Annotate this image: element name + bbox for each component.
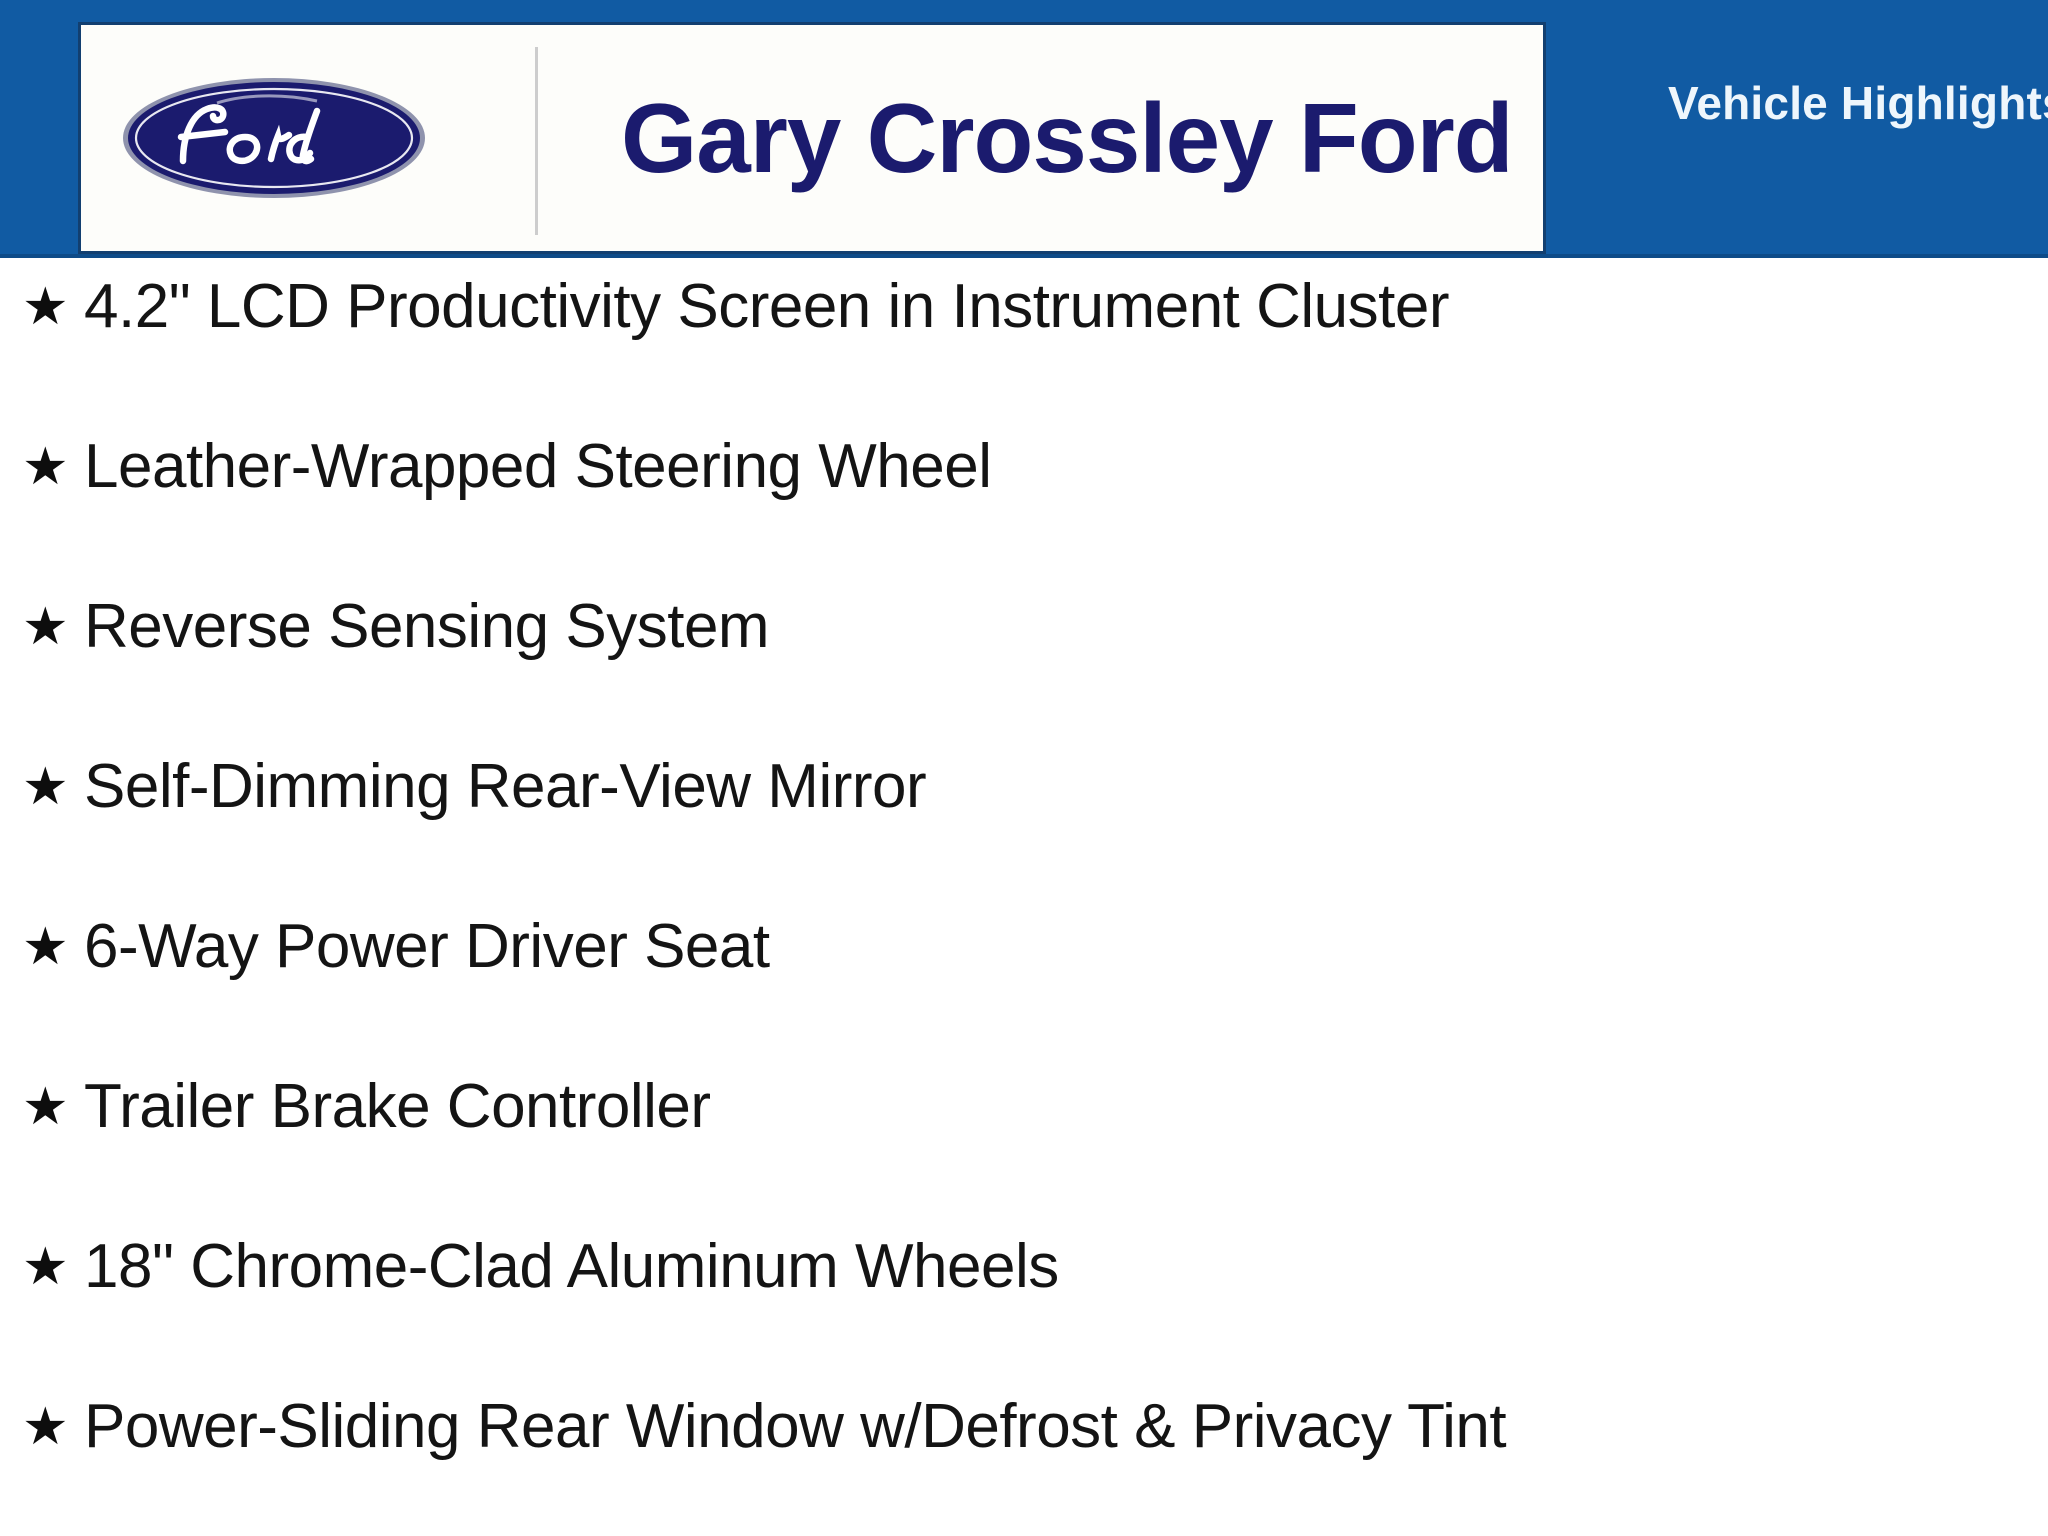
header-divider: [535, 47, 538, 235]
star-bullet-icon: ★: [22, 1401, 84, 1453]
dealer-name: Gary Crossley Ford: [621, 89, 1513, 187]
list-item: ★ Self-Dimming Rear-View Mirror: [22, 742, 926, 832]
list-item: ★ 6-Way Power Driver Seat: [22, 902, 770, 992]
list-item-label: Power-Sliding Rear Window w/Defrost & Pr…: [84, 1396, 1506, 1458]
list-item-label: Self-Dimming Rear-View Mirror: [84, 756, 926, 818]
list-item: ★ Power-Sliding Rear Window w/Defrost & …: [22, 1382, 1506, 1472]
list-item-label: 6-Way Power Driver Seat: [84, 916, 770, 978]
section-label-vehicle-highlights: Vehicle Highlights: [1668, 76, 2048, 130]
list-item: ★ Leather-Wrapped Steering Wheel: [22, 422, 992, 512]
list-item: ★ 4.2" LCD Productivity Screen in Instru…: [22, 262, 1449, 352]
list-item-label: Leather-Wrapped Steering Wheel: [84, 436, 992, 498]
list-item: ★ 18" Chrome-Clad Aluminum Wheels: [22, 1222, 1059, 1312]
list-item-label: 4.2" LCD Productivity Screen in Instrume…: [84, 276, 1449, 338]
vehicle-highlights-list: ★ 4.2" LCD Productivity Screen in Instru…: [0, 258, 2048, 1536]
dealer-logo-panel: Gary Crossley Ford: [78, 22, 1546, 254]
list-item: ★ Trailer Brake Controller: [22, 1062, 711, 1152]
page-header: Gary Crossley Ford Vehicle Highlights: [0, 0, 2048, 258]
star-bullet-icon: ★: [22, 1081, 84, 1133]
ford-oval-logo-icon: [121, 75, 427, 201]
star-bullet-icon: ★: [22, 441, 84, 493]
list-item-label: 18" Chrome-Clad Aluminum Wheels: [84, 1236, 1059, 1298]
star-bullet-icon: ★: [22, 1241, 84, 1293]
star-bullet-icon: ★: [22, 601, 84, 653]
star-bullet-icon: ★: [22, 761, 84, 813]
list-item-label: Trailer Brake Controller: [84, 1076, 711, 1138]
star-bullet-icon: ★: [22, 921, 84, 973]
list-item: ★ Reverse Sensing System: [22, 582, 769, 672]
vehicle-highlights-page: Gary Crossley Ford Vehicle Highlights ★ …: [0, 0, 2048, 1536]
star-bullet-icon: ★: [22, 281, 84, 333]
list-item-label: Reverse Sensing System: [84, 596, 769, 658]
